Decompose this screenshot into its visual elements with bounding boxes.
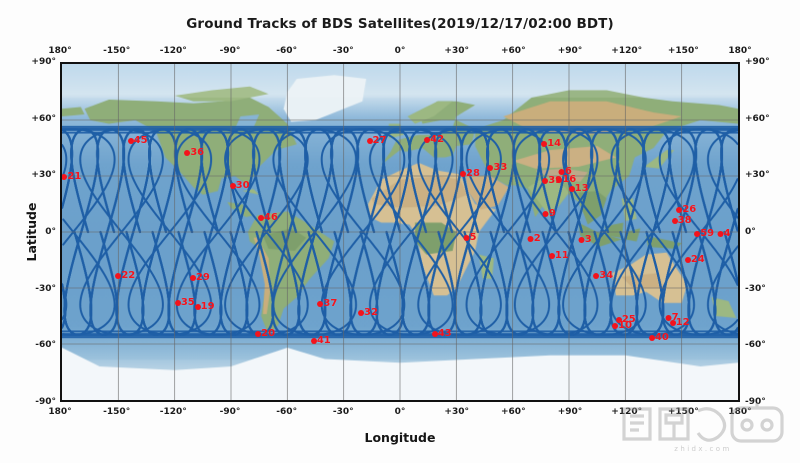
x-tick-label: -60° xyxy=(276,407,297,417)
y-tick-label: +30° xyxy=(745,170,770,180)
x-tick-label: 0° xyxy=(395,46,406,56)
satellite-marker: 27 xyxy=(367,136,387,146)
x-tick-label: +90° xyxy=(558,46,583,56)
satellite-marker: 26 xyxy=(676,205,696,215)
satellite-label: 33 xyxy=(493,163,507,173)
satellite-marker: 5 xyxy=(464,233,477,243)
satellite-label: 35 xyxy=(181,298,195,308)
satellite-label: 36 xyxy=(190,148,204,158)
satellite-dot xyxy=(128,138,134,144)
satellite-marker: 10 xyxy=(612,321,632,331)
chart-title: Ground Tracks of BDS Satellites(2019/12/… xyxy=(0,16,800,32)
satellite-label: 42 xyxy=(430,135,444,145)
satellite-dot xyxy=(184,150,190,156)
satellite-dot xyxy=(549,253,555,259)
x-tick-label: +30° xyxy=(444,407,469,417)
satellite-marker: 33 xyxy=(487,163,507,173)
satellite-marker: 37 xyxy=(317,299,337,309)
satellite-label: 30 xyxy=(236,181,250,191)
x-tick-label: +150° xyxy=(668,407,699,417)
satellite-label: 11 xyxy=(555,251,569,261)
satellite-label: 26 xyxy=(682,205,696,215)
x-tick-label: 180° xyxy=(48,407,71,417)
satellite-label: 29 xyxy=(196,273,210,283)
satellite-marker: 59 xyxy=(694,229,714,239)
y-tick-label: +30° xyxy=(22,170,56,180)
satellite-label: 4 xyxy=(724,229,731,239)
satellite-dot xyxy=(255,331,261,337)
satellite-marker: 29 xyxy=(190,273,210,283)
satellite-dot xyxy=(569,186,575,192)
satellite-label: 43 xyxy=(438,329,452,339)
satellite-label: 59 xyxy=(700,229,714,239)
satellite-dot xyxy=(694,231,700,237)
figure-root: Ground Tracks of BDS Satellites(2019/12/… xyxy=(0,0,800,463)
satellite-dot xyxy=(685,257,691,263)
watermark-text: zhidx.com xyxy=(614,445,792,453)
satellite-dot xyxy=(543,211,549,217)
satellite-dot xyxy=(367,138,373,144)
satellite-dot xyxy=(311,338,317,344)
x-tick-label: -90° xyxy=(220,46,241,56)
satellite-dot xyxy=(190,275,196,281)
satellite-label: 14 xyxy=(547,139,561,149)
satellite-marker: 38 xyxy=(672,216,692,226)
y-tick-label: -30° xyxy=(745,284,766,294)
x-tick-label: 0° xyxy=(395,407,406,417)
satellite-dot xyxy=(579,237,585,243)
satellite-label: 37 xyxy=(323,299,337,309)
plot-area: 2145222936304635192037322728331463916139… xyxy=(60,62,740,402)
satellite-markers-layer: 2145222936304635192037322728331463916139… xyxy=(62,64,738,400)
satellite-label: 46 xyxy=(264,213,278,223)
satellite-marker: 30 xyxy=(230,181,250,191)
satellite-marker: 4 xyxy=(718,229,731,239)
x-tick-label: 180° xyxy=(728,407,751,417)
satellite-dot xyxy=(195,304,201,310)
satellite-label: 19 xyxy=(201,302,215,312)
satellite-dot xyxy=(718,231,724,237)
satellite-dot xyxy=(542,178,548,184)
satellite-dot xyxy=(612,323,618,329)
satellite-label: 39 xyxy=(548,176,562,186)
satellite-marker: 6 xyxy=(559,167,572,177)
x-tick-label: -120° xyxy=(160,46,187,56)
satellite-dot xyxy=(649,335,655,341)
satellite-dot xyxy=(666,315,672,321)
x-tick-label: -150° xyxy=(103,46,130,56)
satellite-label: 25 xyxy=(622,315,636,325)
y-tick-label: -90° xyxy=(22,397,56,407)
satellite-dot xyxy=(593,273,599,279)
x-tick-label: +90° xyxy=(558,407,583,417)
satellite-marker: 13 xyxy=(569,184,589,194)
satellite-marker: 11 xyxy=(549,251,569,261)
y-tick-label: -90° xyxy=(745,397,766,407)
satellite-label: 13 xyxy=(575,184,589,194)
satellite-label: 10 xyxy=(618,321,632,331)
satellite-label: 16 xyxy=(562,175,576,185)
x-tick-label: 180° xyxy=(728,46,751,56)
satellite-label: 41 xyxy=(317,336,331,346)
satellite-marker: 41 xyxy=(311,336,331,346)
satellite-marker: 46 xyxy=(258,213,278,223)
satellite-marker: 45 xyxy=(128,136,148,146)
satellite-label: 27 xyxy=(373,136,387,146)
y-tick-label: +60° xyxy=(22,114,56,124)
x-tick-label: 180° xyxy=(48,46,71,56)
satellite-marker: 28 xyxy=(460,169,480,179)
x-tick-label: -60° xyxy=(276,46,297,56)
satellite-marker: 19 xyxy=(195,302,215,312)
satellite-marker: 32 xyxy=(358,308,378,318)
x-tick-label: -30° xyxy=(333,46,354,56)
satellite-marker: 42 xyxy=(424,135,444,145)
x-tick-label: -120° xyxy=(160,407,187,417)
y-tick-label: -60° xyxy=(22,340,56,350)
x-tick-label: +120° xyxy=(611,46,642,56)
satellite-marker: 24 xyxy=(685,255,705,265)
satellite-marker: 3 xyxy=(579,235,592,245)
satellite-dot xyxy=(115,273,121,279)
satellite-label: 2 xyxy=(534,234,541,244)
satellite-dot xyxy=(230,183,236,189)
y-tick-label: -30° xyxy=(22,284,56,294)
satellite-label: 6 xyxy=(565,167,572,177)
satellite-marker: 36 xyxy=(184,148,204,158)
y-tick-label: 0° xyxy=(745,227,756,237)
satellite-dot xyxy=(676,207,682,213)
satellite-marker: 14 xyxy=(541,139,561,149)
x-tick-label: +120° xyxy=(611,407,642,417)
satellite-marker: 34 xyxy=(593,271,613,281)
satellite-label: 3 xyxy=(585,235,592,245)
satellite-marker: 2 xyxy=(528,234,541,244)
satellite-label: 22 xyxy=(121,271,135,281)
x-tick-label: -150° xyxy=(103,407,130,417)
y-axis-label: Latitude xyxy=(24,203,39,262)
satellite-label: 38 xyxy=(678,216,692,226)
satellite-dot xyxy=(487,165,493,171)
satellite-dot xyxy=(460,171,466,177)
x-tick-label: -30° xyxy=(333,407,354,417)
satellite-marker: 39 xyxy=(542,176,562,186)
satellite-dot xyxy=(616,317,622,323)
satellite-marker: 43 xyxy=(432,329,452,339)
satellite-marker: 9 xyxy=(543,209,556,219)
satellite-marker: 12 xyxy=(670,318,690,328)
x-tick-label: +60° xyxy=(501,46,526,56)
satellite-label: 7 xyxy=(672,313,679,323)
y-tick-label: +90° xyxy=(22,57,56,67)
satellite-marker: 22 xyxy=(115,271,135,281)
satellite-label: 12 xyxy=(676,318,690,328)
satellite-dot xyxy=(541,141,547,147)
satellite-dot xyxy=(464,235,470,241)
satellite-dot xyxy=(670,320,676,326)
satellite-label: 32 xyxy=(364,308,378,318)
satellite-dot xyxy=(672,218,678,224)
satellite-dot xyxy=(258,215,264,221)
satellite-dot xyxy=(424,137,430,143)
satellite-marker: 16 xyxy=(556,175,576,185)
satellite-dot xyxy=(317,301,323,307)
satellite-label: 45 xyxy=(134,136,148,146)
satellite-marker: 25 xyxy=(616,315,636,325)
satellite-label: 40 xyxy=(655,333,669,343)
satellite-label: 21 xyxy=(67,172,81,182)
satellite-label: 28 xyxy=(466,169,480,179)
y-tick-label: +90° xyxy=(745,57,770,67)
satellite-label: 20 xyxy=(261,329,275,339)
satellite-label: 5 xyxy=(470,233,477,243)
satellite-dot xyxy=(175,300,181,306)
satellite-marker: 40 xyxy=(649,333,669,343)
x-axis-label: Longitude xyxy=(60,430,740,445)
satellite-label: 34 xyxy=(599,271,613,281)
satellite-dot xyxy=(559,169,565,175)
x-tick-label: +60° xyxy=(501,407,526,417)
x-tick-label: -90° xyxy=(220,407,241,417)
satellite-dot xyxy=(528,236,534,242)
satellite-label: 24 xyxy=(691,255,705,265)
satellite-marker: 7 xyxy=(666,313,679,323)
satellite-label: 9 xyxy=(549,209,556,219)
x-tick-label: +150° xyxy=(668,46,699,56)
satellite-dot xyxy=(556,177,562,183)
satellite-marker: 21 xyxy=(61,172,81,182)
y-tick-label: -60° xyxy=(745,340,766,350)
satellite-dot xyxy=(432,331,438,337)
satellite-marker: 20 xyxy=(255,329,275,339)
satellite-dot xyxy=(61,174,67,180)
satellite-marker: 35 xyxy=(175,298,195,308)
x-tick-label: +30° xyxy=(444,46,469,56)
satellite-dot xyxy=(358,310,364,316)
y-tick-label: +60° xyxy=(745,114,770,124)
